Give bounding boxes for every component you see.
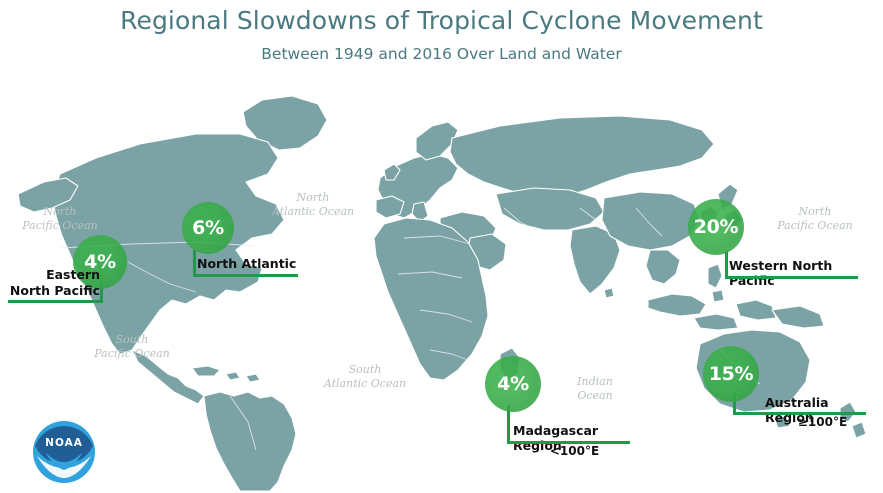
connector-north-atlantic xyxy=(193,250,196,275)
underline-north-atlantic xyxy=(193,274,298,277)
connector-western-north-pacific xyxy=(725,251,728,277)
noaa-logo[interactable]: NOAA xyxy=(28,416,100,488)
label-western-north-pacific: Western North Pacific xyxy=(729,258,879,288)
bubble-western-north-pacific[interactable]: 20% xyxy=(688,199,744,255)
sublabel-australia-region: ≥100°E xyxy=(765,415,880,429)
bubble-australia-region[interactable]: 15% xyxy=(703,346,759,402)
label-eastern-north-pacific: Eastern North Pacific xyxy=(8,267,100,299)
label-north-atlantic: North Atlantic xyxy=(197,256,297,271)
underline-western-north-pacific xyxy=(725,276,858,279)
underline-eastern-north-pacific xyxy=(8,300,103,303)
sublabel-madagascar-region: <100°E xyxy=(513,444,636,458)
bubble-madagascar-region[interactable]: 4% xyxy=(485,356,541,412)
infographic-canvas: Regional Slowdowns of Tropical Cyclone M… xyxy=(0,0,883,491)
page-subtitle: Between 1949 and 2016 Over Land and Wate… xyxy=(0,45,883,63)
bubble-north-atlantic[interactable]: 6% xyxy=(182,202,234,254)
noaa-logo-text: NOAA xyxy=(45,437,83,449)
page-title: Regional Slowdowns of Tropical Cyclone M… xyxy=(0,6,883,35)
